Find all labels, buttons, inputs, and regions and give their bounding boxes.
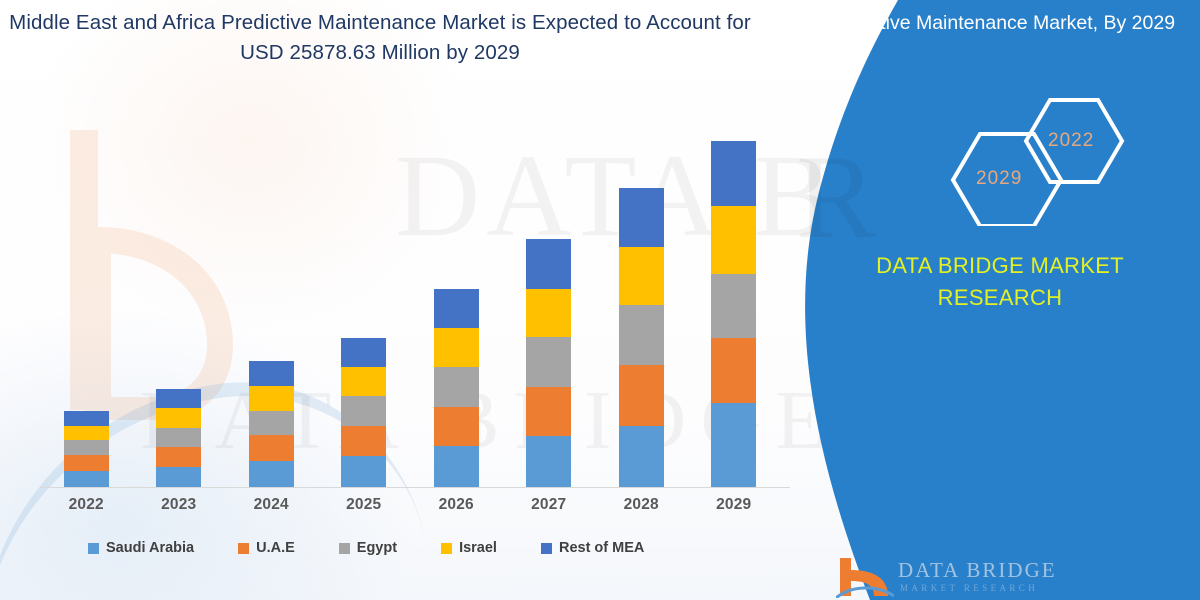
right-panel-content: Predictive Maintenance Market, By 2029 2… — [780, 0, 1200, 600]
brand-line-2: RESEARCH — [822, 282, 1178, 314]
bar-segment — [526, 289, 571, 338]
footer-logo-name: DATA BRIDGE — [898, 558, 1057, 583]
bar-segment — [249, 461, 294, 487]
chart-plot-area — [40, 110, 780, 488]
x-axis-tick-label: 2022 — [40, 496, 133, 514]
hexagon-2022-label: 2022 — [1048, 130, 1094, 152]
bar-segment — [711, 206, 756, 273]
bar-segment — [619, 188, 664, 247]
legend-swatch-icon — [238, 543, 249, 554]
bar-segment — [341, 456, 386, 487]
bar-segment — [526, 436, 571, 487]
bar-segment — [156, 428, 201, 448]
x-axis-tick-label: 2027 — [503, 496, 596, 514]
bar-segment — [341, 367, 386, 396]
bar-segment — [64, 455, 109, 471]
bar-column — [410, 289, 503, 487]
bar-segment — [341, 396, 386, 426]
x-axis-tick-label: 2026 — [410, 496, 503, 514]
x-axis-labels: 20222023202420252026202720282029 — [40, 496, 780, 514]
stacked-bar[interactable] — [711, 141, 756, 487]
bar-column — [225, 361, 318, 487]
legend-label: U.A.E — [256, 540, 295, 556]
stacked-bar[interactable] — [341, 338, 386, 487]
legend-item[interactable]: Rest of MEA — [541, 540, 644, 556]
bar-segment — [619, 365, 664, 426]
infographic-canvas: DATA BRIDGE DATA BRIDGE MARKET RESEARCH … — [0, 0, 1200, 600]
legend-label: Egypt — [357, 540, 397, 556]
legend-label: Israel — [459, 540, 497, 556]
bar-group — [40, 110, 780, 487]
legend-swatch-icon — [541, 543, 552, 554]
page-title: Middle East and Africa Predictive Mainte… — [0, 8, 760, 68]
chart-baseline — [40, 487, 790, 488]
bar-segment — [64, 471, 109, 487]
chart-legend: Saudi ArabiaU.A.EEgyptIsraelRest of MEA — [60, 540, 808, 556]
x-axis-tick-label: 2025 — [318, 496, 411, 514]
stacked-bar[interactable] — [434, 289, 479, 487]
x-axis-tick-label: 2024 — [225, 496, 318, 514]
bar-segment — [526, 239, 571, 289]
bar-segment — [619, 247, 664, 306]
bar-segment — [156, 447, 201, 467]
hexagon-2029-label: 2029 — [976, 168, 1022, 190]
brand-name: DATA BRIDGE MARKET RESEARCH — [822, 250, 1178, 314]
legend-swatch-icon — [88, 543, 99, 554]
bar-column — [133, 389, 226, 487]
bar-segment — [249, 386, 294, 411]
footer-logo-tagline: MARKET RESEARCH — [900, 583, 1038, 593]
bar-segment — [249, 411, 294, 436]
bar-segment — [434, 328, 479, 367]
stacked-bar[interactable] — [619, 188, 664, 487]
bar-segment — [64, 411, 109, 426]
stacked-bar[interactable] — [526, 239, 571, 487]
stacked-bar[interactable] — [156, 389, 201, 487]
stacked-bar-chart — [40, 110, 780, 488]
bar-segment — [711, 338, 756, 402]
bar-segment — [434, 407, 479, 447]
x-axis-tick-label: 2023 — [133, 496, 226, 514]
bar-segment — [711, 403, 756, 487]
bar-column — [503, 239, 596, 487]
bar-segment — [526, 387, 571, 437]
legend-item[interactable]: Israel — [441, 540, 497, 556]
stacked-bar[interactable] — [64, 411, 109, 487]
right-panel-title: Predictive Maintenance Market, By 2029 — [822, 8, 1178, 38]
bar-segment — [711, 274, 756, 338]
legend-label: Saudi Arabia — [106, 540, 194, 556]
bar-segment — [249, 435, 294, 461]
bar-segment — [619, 305, 664, 365]
brand-line-1: DATA BRIDGE MARKET — [822, 250, 1178, 282]
footer-logo: DATA BRIDGE MARKET RESEARCH — [836, 556, 1096, 600]
bar-segment — [249, 361, 294, 386]
bar-segment — [64, 426, 109, 441]
stacked-bar[interactable] — [249, 361, 294, 487]
bar-segment — [711, 141, 756, 206]
bar-segment — [156, 467, 201, 487]
bar-segment — [341, 338, 386, 367]
x-axis-tick-label: 2028 — [595, 496, 688, 514]
bar-segment — [156, 408, 201, 428]
bar-column — [318, 338, 411, 487]
legend-item[interactable]: U.A.E — [238, 540, 295, 556]
bar-segment — [64, 440, 109, 455]
bar-segment — [434, 289, 479, 329]
bar-column — [595, 188, 688, 487]
hexagon-group: 2022 2029 — [822, 96, 1178, 226]
bar-segment — [619, 426, 664, 488]
bridge-logo-icon — [836, 556, 894, 598]
legend-item[interactable]: Egypt — [339, 540, 397, 556]
bar-segment — [434, 367, 479, 407]
bar-segment — [341, 426, 386, 457]
legend-swatch-icon — [441, 543, 452, 554]
x-axis-tick-label: 2029 — [688, 496, 781, 514]
bar-column — [688, 141, 781, 487]
legend-swatch-icon — [339, 543, 350, 554]
hexagons-icon — [822, 96, 1178, 226]
legend-item[interactable]: Saudi Arabia — [88, 540, 194, 556]
legend-label: Rest of MEA — [559, 540, 644, 556]
bar-segment — [434, 446, 479, 487]
bar-column — [40, 411, 133, 487]
bar-segment — [526, 337, 571, 387]
bar-segment — [156, 389, 201, 408]
